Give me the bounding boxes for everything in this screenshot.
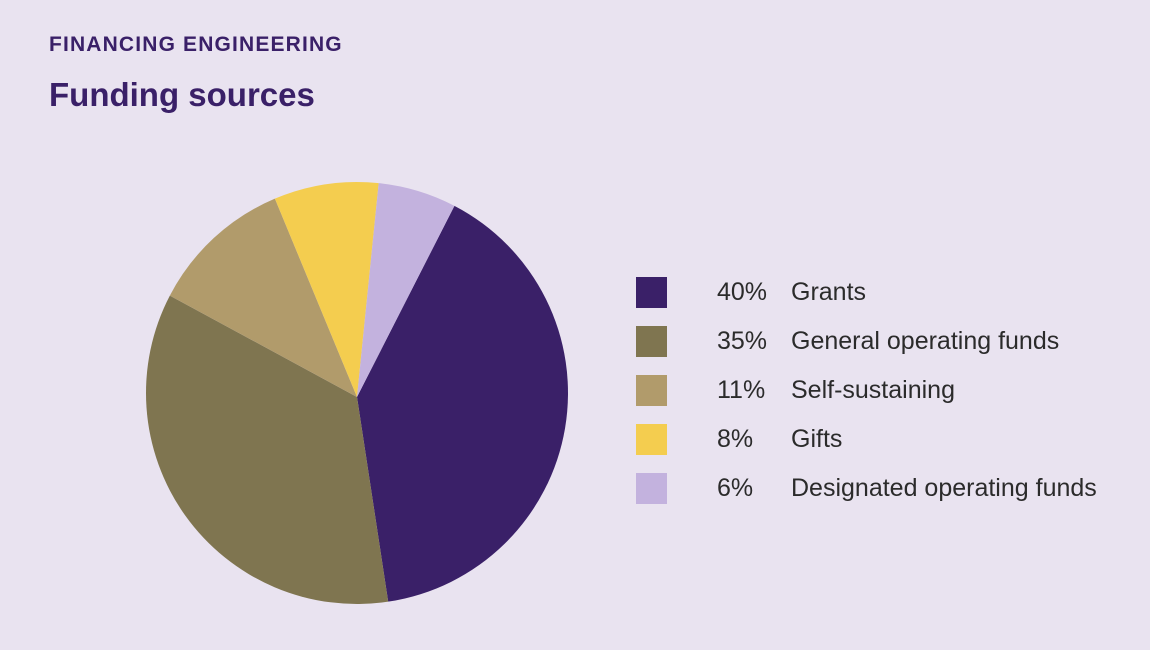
legend-category-label: Gifts (791, 427, 842, 452)
pie-chart-svg: Grants 40%General operating funds 35%Sel… (146, 182, 568, 604)
legend-percent-value: 11% (717, 378, 791, 403)
legend-row[interactable]: 35%General operating funds (636, 317, 1097, 366)
eyebrow-label: FINANCING ENGINEERING (49, 33, 343, 56)
pie-slice-group: Grants 40%General operating funds 35%Sel… (146, 182, 568, 604)
legend-row[interactable]: 6%Designated operating funds (636, 464, 1097, 513)
legend-row[interactable]: 40%Grants (636, 268, 1097, 317)
legend-category-label: Designated operating funds (791, 476, 1097, 501)
pie-chart: Grants 40%General operating funds 35%Sel… (146, 182, 568, 604)
legend-percent-value: 40% (717, 280, 791, 305)
legend-category-label: General operating funds (791, 329, 1059, 354)
page-title: Funding sources (49, 77, 343, 113)
funding-sources-figure: FINANCING ENGINEERING Funding sources Gr… (0, 0, 1150, 650)
legend-row[interactable]: 11%Self-sustaining (636, 366, 1097, 415)
legend-percent-value: 8% (717, 427, 791, 452)
legend-color-swatch (636, 375, 667, 406)
legend-color-swatch (636, 473, 667, 504)
heading-block: FINANCING ENGINEERING Funding sources (49, 33, 343, 113)
legend-color-swatch (636, 424, 667, 455)
chart-legend: 40%Grants35%General operating funds11%Se… (636, 268, 1097, 513)
legend-category-label: Grants (791, 280, 866, 305)
legend-row[interactable]: 8%Gifts (636, 415, 1097, 464)
legend-percent-value: 6% (717, 476, 791, 501)
legend-percent-value: 35% (717, 329, 791, 354)
legend-color-swatch (636, 277, 667, 308)
legend-category-label: Self-sustaining (791, 378, 955, 403)
legend-color-swatch (636, 326, 667, 357)
